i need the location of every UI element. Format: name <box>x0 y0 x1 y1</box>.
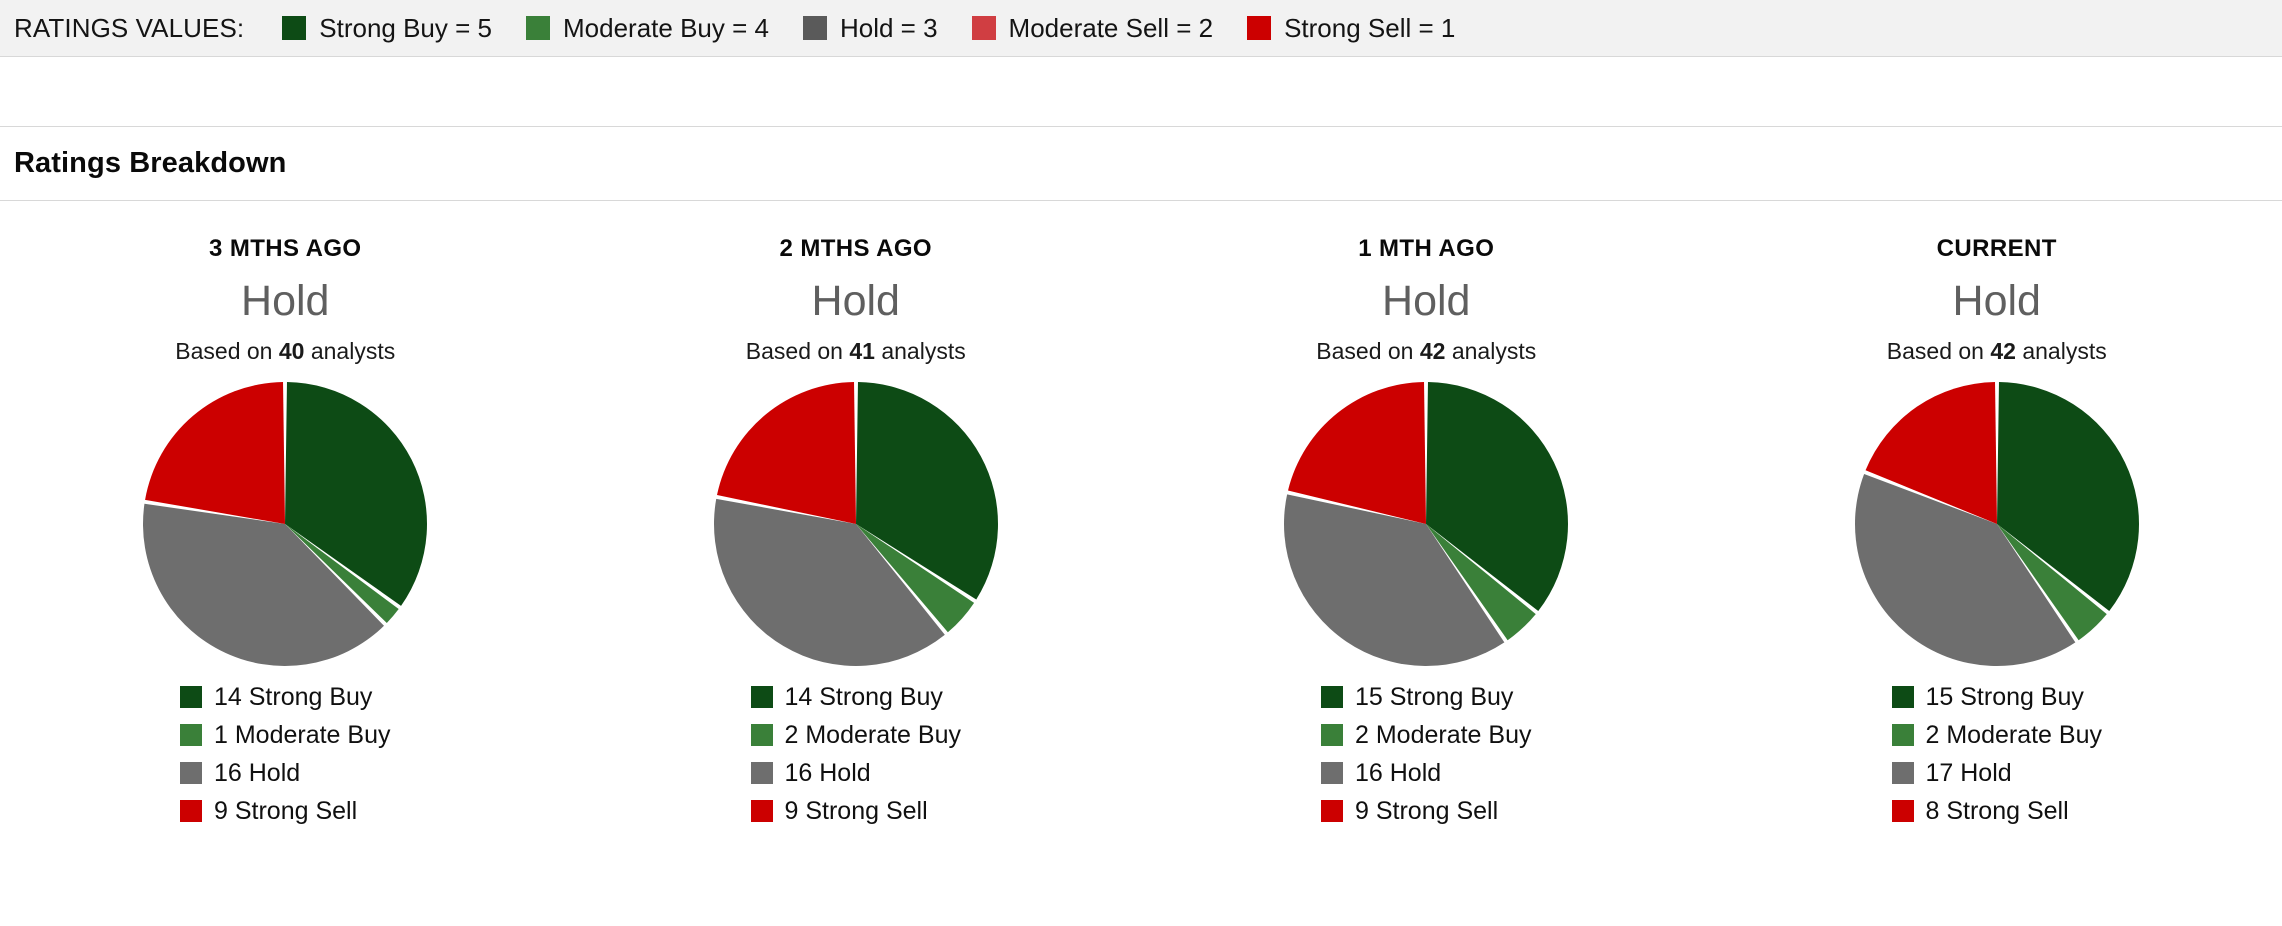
based-on-suffix: analysts <box>1445 338 1536 364</box>
ratings-value-label: Moderate Buy = 4 <box>563 13 769 44</box>
pie-legend: 14 Strong Buy2 Moderate Buy16 Hold9 Stro… <box>751 679 962 829</box>
ratings-breakdown-grid: 3 MTHS AGOHoldBased on 40 analysts14 Str… <box>0 201 2282 829</box>
hold-swatch-icon <box>1321 762 1343 784</box>
analyst-count-text: Based on 40 analysts <box>175 338 395 365</box>
ratings-value-label: Hold = 3 <box>840 13 938 44</box>
legend-item-label: 9 Strong Sell <box>214 797 357 826</box>
legend-item-label: 15 Strong Buy <box>1355 683 1513 712</box>
legend-item-label: 14 Strong Buy <box>214 683 372 712</box>
legend-item-label: 2 Moderate Buy <box>1355 721 1532 750</box>
consensus-rating: Hold <box>241 279 329 324</box>
breakdown-column-3: 1 MTH AGOHoldBased on 42 analysts15 Stro… <box>1141 235 1712 829</box>
pie-chart-svg <box>711 379 1001 669</box>
legend-item: 16 Hold <box>180 755 300 791</box>
strong-buy-swatch-icon <box>1892 686 1914 708</box>
hold-swatch-icon <box>1892 762 1914 784</box>
strong-buy-swatch-icon <box>751 686 773 708</box>
breakdown-column-4: CURRENTHoldBased on 42 analysts15 Strong… <box>1712 235 2282 829</box>
legend-item-label: 8 Strong Sell <box>1926 797 2069 826</box>
analyst-count-text: Based on 42 analysts <box>1316 338 1536 365</box>
consensus-rating: Hold <box>812 279 900 324</box>
ratings-value-label: Strong Sell = 1 <box>1284 13 1455 44</box>
legend-item: 16 Hold <box>1321 755 1441 791</box>
analyst-count-text: Based on 42 analysts <box>1887 338 2107 365</box>
legend-item: 14 Strong Buy <box>180 679 372 715</box>
pie-legend: 14 Strong Buy1 Moderate Buy16 Hold9 Stro… <box>180 679 391 829</box>
moderate-buy-swatch-icon <box>180 724 202 746</box>
consensus-rating: Hold <box>1382 279 1470 324</box>
pie-chart-svg <box>140 379 430 669</box>
analyst-count-value: 40 <box>279 338 305 364</box>
hold-swatch-icon <box>751 762 773 784</box>
legend-item: 14 Strong Buy <box>751 679 943 715</box>
column-period-label: 2 MTHS AGO <box>780 235 932 263</box>
legend-item-label: 16 Hold <box>1355 759 1441 788</box>
legend-item: 17 Hold <box>1892 755 2012 791</box>
page-title: Ratings Breakdown <box>14 147 286 180</box>
legend-item-label: 16 Hold <box>214 759 300 788</box>
strong-sell-swatch-icon <box>1321 800 1343 822</box>
ratings-pie-chart <box>711 379 1001 669</box>
legend-item-label: 9 Strong Sell <box>785 797 928 826</box>
strong-sell-swatch-icon <box>180 800 202 822</box>
strong-sell-swatch-icon <box>1892 800 1914 822</box>
strong-buy-swatch-icon <box>180 686 202 708</box>
ratings-value-strong-sell: Strong Sell = 1 <box>1247 13 1455 44</box>
hold-swatch-icon <box>803 16 827 40</box>
based-on-suffix: analysts <box>304 338 395 364</box>
spacer-band <box>0 57 2282 127</box>
analyst-count-value: 42 <box>1990 338 2016 364</box>
legend-item: 2 Moderate Buy <box>751 717 962 753</box>
consensus-rating: Hold <box>1953 279 2041 324</box>
based-on-prefix: Based on <box>1316 338 1420 364</box>
breakdown-column-1: 3 MTHS AGOHoldBased on 40 analysts14 Str… <box>0 235 571 829</box>
moderate-buy-swatch-icon <box>1892 724 1914 746</box>
breakdown-column-2: 2 MTHS AGOHoldBased on 41 analysts14 Str… <box>571 235 1142 829</box>
legend-item: 16 Hold <box>751 755 871 791</box>
ratings-value-moderate-buy: Moderate Buy = 4 <box>526 13 769 44</box>
legend-item-label: 1 Moderate Buy <box>214 721 391 750</box>
ratings-pie-chart <box>1281 379 1571 669</box>
moderate-buy-swatch-icon <box>526 16 550 40</box>
legend-item: 15 Strong Buy <box>1321 679 1513 715</box>
hold-swatch-icon <box>180 762 202 784</box>
ratings-values-legend: Strong Buy = 5Moderate Buy = 4Hold = 3Mo… <box>282 13 1489 44</box>
ratings-values-bar: RATINGS VALUES: Strong Buy = 5Moderate B… <box>0 0 2282 57</box>
column-period-label: 1 MTH AGO <box>1358 235 1494 263</box>
pie-slice-strong-sell[interactable] <box>145 382 285 524</box>
ratings-value-label: Moderate Sell = 2 <box>1009 13 1214 44</box>
ratings-pie-chart <box>1852 379 2142 669</box>
legend-item: 9 Strong Sell <box>180 793 357 829</box>
ratings-value-moderate-sell: Moderate Sell = 2 <box>972 13 1214 44</box>
ratings-value-strong-buy: Strong Buy = 5 <box>282 13 492 44</box>
based-on-prefix: Based on <box>1887 338 1991 364</box>
legend-item-label: 14 Strong Buy <box>785 683 943 712</box>
strong-sell-swatch-icon <box>1247 16 1271 40</box>
column-period-label: 3 MTHS AGO <box>209 235 361 263</box>
moderate-buy-swatch-icon <box>1321 724 1343 746</box>
based-on-prefix: Based on <box>175 338 279 364</box>
legend-item-label: 9 Strong Sell <box>1355 797 1498 826</box>
pie-chart-svg <box>1281 379 1571 669</box>
legend-item: 8 Strong Sell <box>1892 793 2069 829</box>
pie-chart-svg <box>1852 379 2142 669</box>
pie-slice-strong-sell[interactable] <box>717 382 856 524</box>
analyst-count-value: 41 <box>849 338 875 364</box>
legend-item-label: 2 Moderate Buy <box>1926 721 2103 750</box>
ratings-values-label: RATINGS VALUES: <box>14 13 244 44</box>
column-period-label: CURRENT <box>1937 235 2057 263</box>
strong-buy-swatch-icon <box>1321 686 1343 708</box>
legend-item-label: 17 Hold <box>1926 759 2012 788</box>
legend-item: 15 Strong Buy <box>1892 679 2084 715</box>
strong-sell-swatch-icon <box>751 800 773 822</box>
legend-item-label: 2 Moderate Buy <box>785 721 962 750</box>
based-on-suffix: analysts <box>875 338 966 364</box>
legend-item: 9 Strong Sell <box>751 793 928 829</box>
analyst-count-value: 42 <box>1420 338 1446 364</box>
legend-item: 1 Moderate Buy <box>180 717 391 753</box>
based-on-suffix: analysts <box>2016 338 2107 364</box>
moderate-sell-swatch-icon <box>972 16 996 40</box>
strong-buy-swatch-icon <box>282 16 306 40</box>
ratings-value-label: Strong Buy = 5 <box>319 13 492 44</box>
ratings-value-hold: Hold = 3 <box>803 13 938 44</box>
pie-legend: 15 Strong Buy2 Moderate Buy16 Hold9 Stro… <box>1321 679 1532 829</box>
legend-item: 2 Moderate Buy <box>1321 717 1532 753</box>
based-on-prefix: Based on <box>746 338 850 364</box>
pie-legend: 15 Strong Buy2 Moderate Buy17 Hold8 Stro… <box>1892 679 2103 829</box>
moderate-buy-swatch-icon <box>751 724 773 746</box>
analyst-count-text: Based on 41 analysts <box>746 338 966 365</box>
legend-item-label: 16 Hold <box>785 759 871 788</box>
ratings-breakdown-header: Ratings Breakdown <box>0 127 2282 201</box>
legend-item-label: 15 Strong Buy <box>1926 683 2084 712</box>
ratings-pie-chart <box>140 379 430 669</box>
legend-item: 2 Moderate Buy <box>1892 717 2103 753</box>
legend-item: 9 Strong Sell <box>1321 793 1498 829</box>
